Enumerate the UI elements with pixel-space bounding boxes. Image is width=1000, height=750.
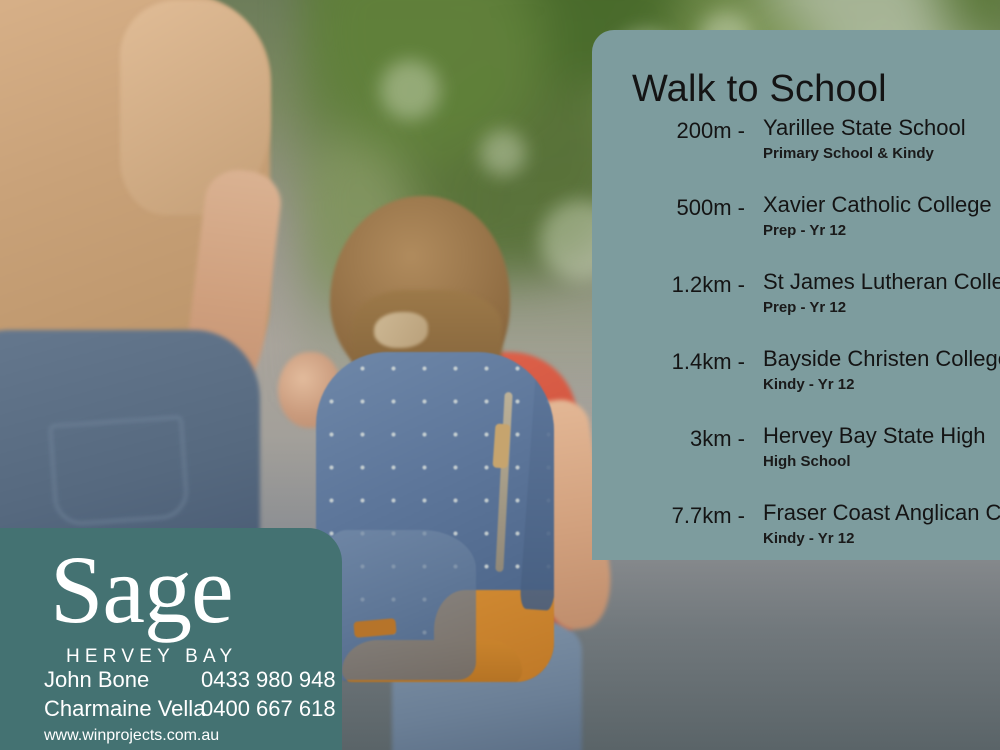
panel-title: Walk to School	[632, 68, 887, 111]
photo-backpack-pocket	[326, 530, 476, 680]
photo-adult-pocket	[49, 415, 190, 526]
school-name: Xavier Catholic College	[763, 192, 992, 218]
contact-phone[interactable]: 0433 980 948	[201, 667, 336, 693]
school-list-item: 3km - Hervey Bay State High High School	[592, 420, 1000, 497]
contact-row: John Bone 0433 980 948	[44, 667, 344, 696]
photo-bokeh	[480, 130, 526, 176]
school-distance: 3km -	[592, 426, 745, 452]
photo-child-hair-bow	[374, 312, 428, 348]
photo-backpack	[316, 352, 554, 682]
school-name: Yarillee State School	[763, 115, 966, 141]
school-list-item: 1.2km - St James Lutheran College Prep -…	[592, 266, 1000, 343]
school-distance: 200m -	[592, 118, 745, 144]
school-levels: Kindy - Yr 12	[763, 376, 854, 393]
contact-name: John Bone	[44, 667, 149, 693]
walk-to-school-panel: Walk to School 200m - Yarillee State Sch…	[592, 30, 1000, 560]
website-link[interactable]: www.winprojects.com.au	[44, 727, 219, 745]
photo-bokeh	[380, 60, 440, 120]
school-name: Bayside Christen College	[763, 346, 1000, 372]
school-distance: 7.7km -	[592, 503, 745, 529]
school-list-item: 500m - Xavier Catholic College Prep - Yr…	[592, 189, 1000, 266]
photo-backpack-zipper-pull	[492, 424, 510, 469]
school-distance: 1.4km -	[592, 349, 745, 375]
school-list-item: 7.7km - Fraser Coast Anglican College Ki…	[592, 497, 1000, 574]
school-list: 200m - Yarillee State School Primary Sch…	[592, 112, 1000, 574]
school-name: Hervey Bay State High	[763, 423, 986, 449]
school-distance: 500m -	[592, 195, 745, 221]
contact-phone[interactable]: 0400 667 618	[201, 696, 336, 722]
marketing-slide: Walk to School 200m - Yarillee State Sch…	[0, 0, 1000, 750]
sage-logo: Sage HERVEY BAY	[0, 542, 342, 646]
school-levels: Primary School & Kindy	[763, 145, 934, 162]
contact-name: Charmaine Vella	[44, 696, 205, 722]
school-name: St James Lutheran College	[763, 269, 1000, 295]
brand-wordmark: Sage	[50, 542, 233, 638]
school-list-item: 200m - Yarillee State School Primary Sch…	[592, 112, 1000, 189]
school-levels: Kindy - Yr 12	[763, 530, 854, 547]
school-levels: High School	[763, 453, 851, 470]
contact-details: John Bone 0433 980 948 Charmaine Vella 0…	[44, 667, 344, 725]
school-levels: Prep - Yr 12	[763, 299, 846, 316]
school-list-item: 1.4km - Bayside Christen College Kindy -…	[592, 343, 1000, 420]
school-distance: 1.2km -	[592, 272, 745, 298]
contact-row: Charmaine Vella 0400 667 618	[44, 696, 344, 725]
school-levels: Prep - Yr 12	[763, 222, 846, 239]
brand-location: HERVEY BAY	[66, 646, 237, 668]
school-name: Fraser Coast Anglican College	[763, 500, 1000, 526]
